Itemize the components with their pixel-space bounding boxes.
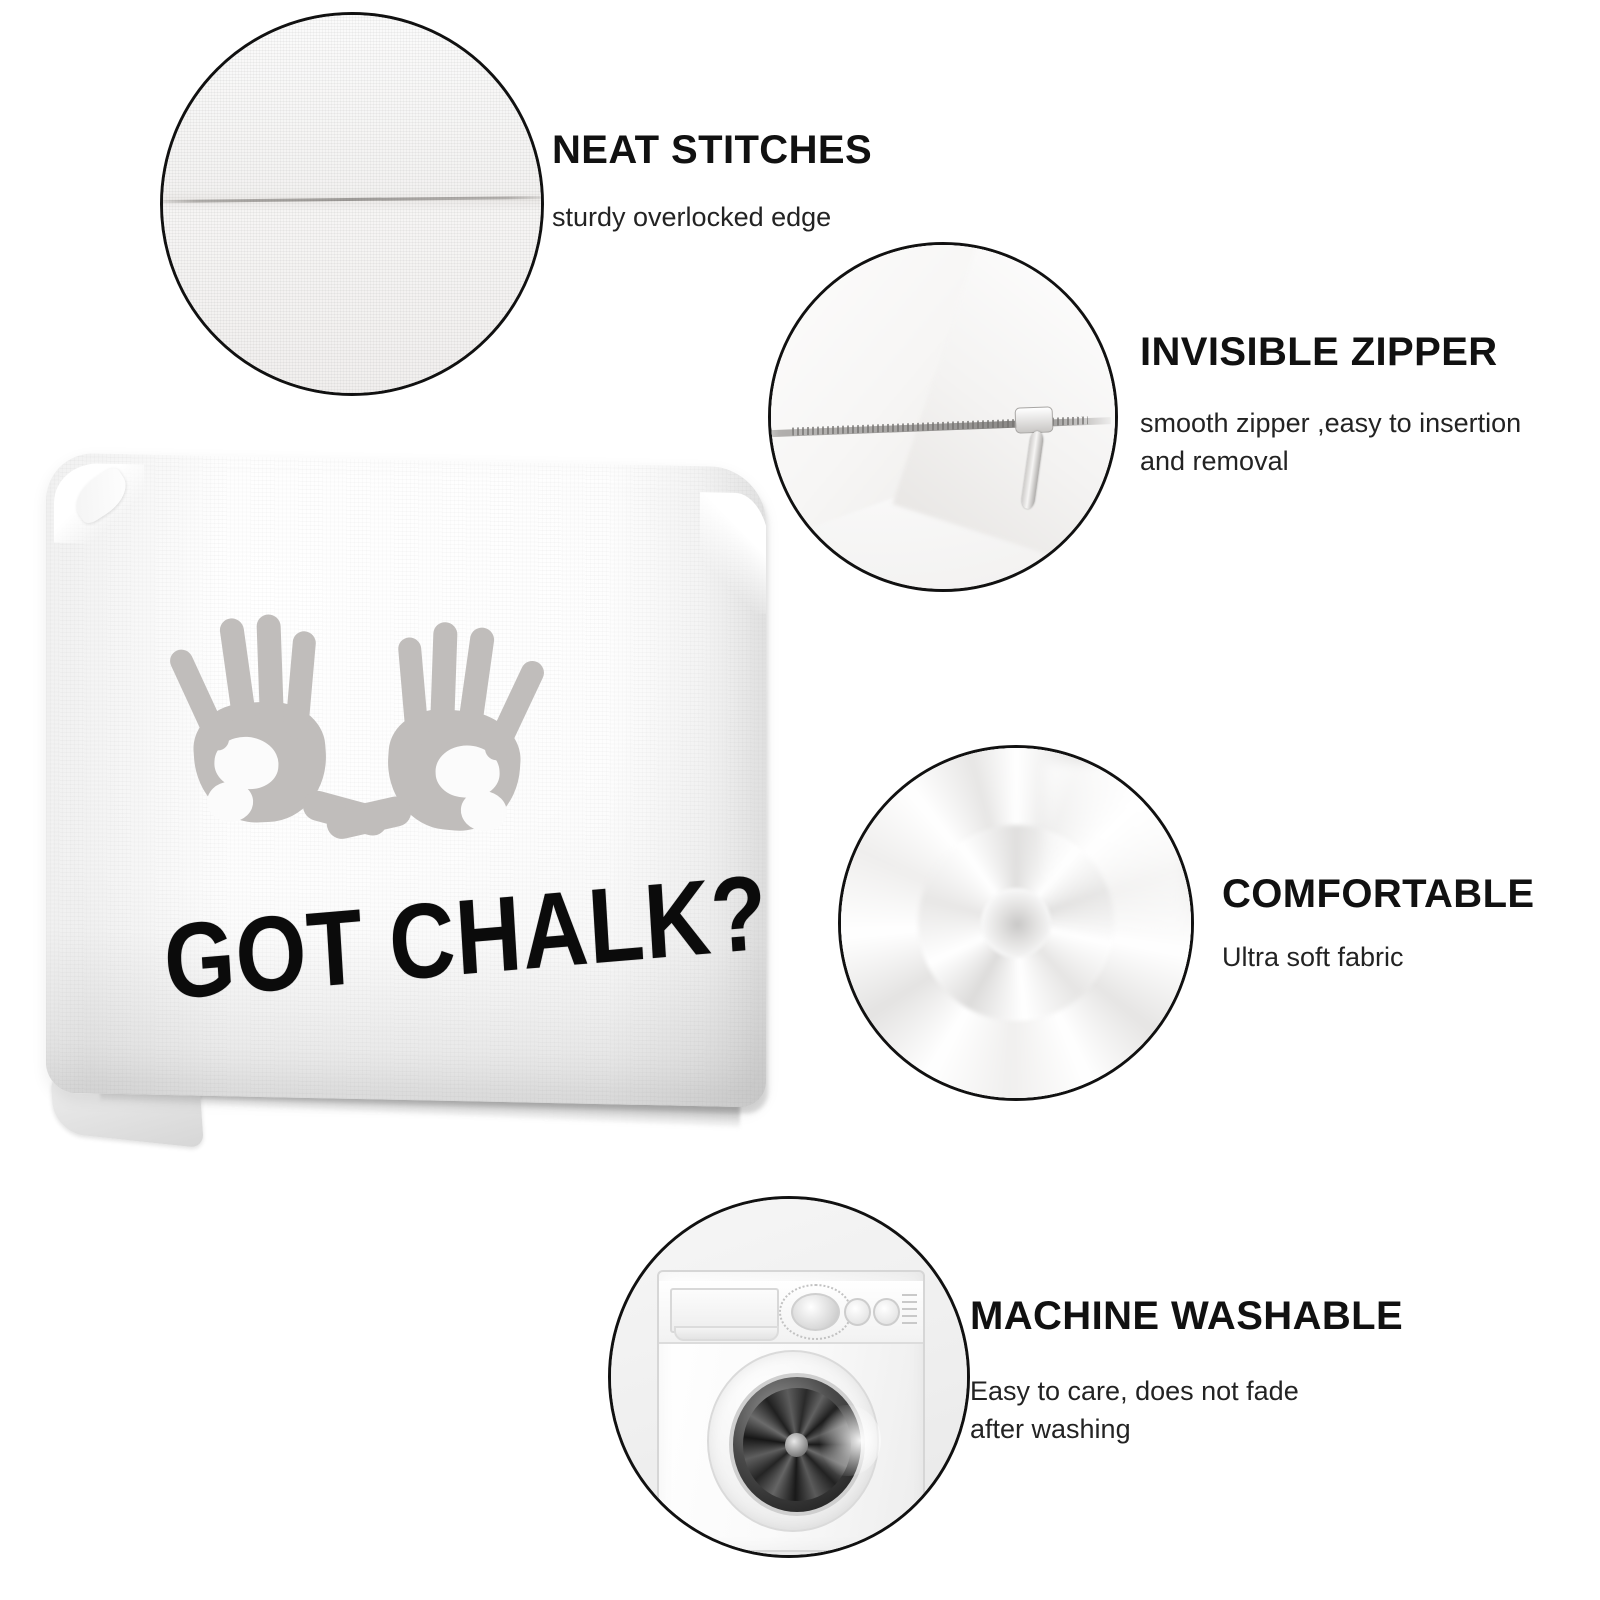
detergent-drawer (670, 1288, 779, 1334)
indicator-lights-icon (902, 1294, 918, 1327)
dial-two-icon (873, 1298, 901, 1326)
feature-title-invisible-zipper: INVISIBLE ZIPPER (1140, 330, 1498, 375)
feature-desc-neat-stitches: sturdy overlocked edge (552, 198, 831, 236)
feature-image-comfortable (838, 745, 1194, 1101)
pillow-print-design: GOT CHALK? (46, 452, 766, 1107)
handprint-left-icon (170, 611, 355, 844)
fabric-seam-swatch-icon (163, 15, 541, 393)
washer-control-panel (659, 1281, 922, 1344)
front-load-washing-machine-icon (611, 1199, 967, 1555)
feature-title-machine-washable: MACHINE WASHABLE (970, 1294, 1403, 1339)
swirled-soft-fabric-icon (841, 748, 1191, 1098)
zipper-slider (1015, 406, 1054, 433)
washer-body (657, 1270, 924, 1552)
door-glint (813, 1405, 880, 1476)
feature-image-neat-stitches (160, 12, 544, 396)
dial-one-icon (844, 1298, 872, 1326)
feature-title-neat-stitches: NEAT STITCHES (552, 128, 872, 173)
pillow-front-face: GOT CHALK? (46, 452, 766, 1107)
feature-title-comfortable: COMFORTABLE (1222, 872, 1535, 917)
feature-image-invisible-zipper (768, 242, 1118, 592)
feature-desc-invisible-zipper: smooth zipper ,easy to insertion and rem… (1140, 404, 1521, 481)
infographic-canvas: NEAT STITCHES sturdy overlocked edge INV… (0, 0, 1600, 1600)
feature-desc-comfortable: Ultra soft fabric (1222, 938, 1404, 976)
feature-desc-machine-washable: Easy to care, does not fade after washin… (970, 1372, 1299, 1449)
program-knob-icon (791, 1293, 840, 1331)
pillow-print-text: GOT CHALK? (161, 852, 766, 1024)
zipper-closeup-icon (771, 245, 1115, 589)
handprint-right-icon (358, 616, 543, 856)
washer-door (707, 1350, 880, 1532)
fabric-highlight (1044, 762, 1184, 937)
product-pillow: GOT CHALK? (30, 440, 790, 1180)
handprint-right-finger-2 (429, 622, 457, 745)
feature-image-machine-washable (608, 1196, 970, 1558)
handprint-left-finger-2 (256, 614, 284, 736)
fabric-swirl-core (981, 888, 1051, 958)
